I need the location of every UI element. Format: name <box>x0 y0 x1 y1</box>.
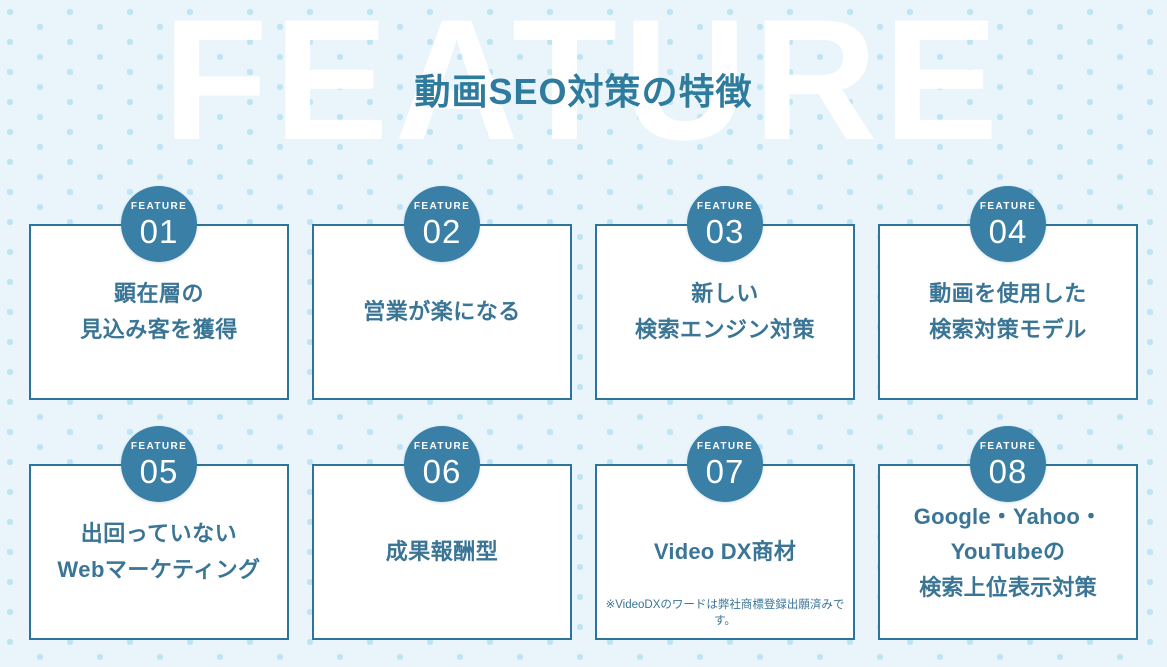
feature-card-04[interactable]: 動画を使用した 検索対策モデル FEATURE 04 <box>878 186 1138 400</box>
feature-card-text: Video DX商材 <box>648 534 802 570</box>
feature-badge-01: FEATURE 01 <box>121 186 197 262</box>
feature-card-02[interactable]: 営業が楽になる FEATURE 02 <box>312 186 572 400</box>
badge-number: 08 <box>989 455 1028 488</box>
feature-badge-05: FEATURE 05 <box>121 426 197 502</box>
feature-badge-08: FEATURE 08 <box>970 426 1046 502</box>
badge-label: FEATURE <box>131 202 187 212</box>
badge-number: 04 <box>989 215 1028 248</box>
badge-number: 03 <box>706 215 745 248</box>
feature-card-note: ※VideoDXのワードは弊社商標登録出願済みです。 <box>597 596 853 628</box>
page-header: FEATURE 動画SEO対策の特徴 <box>0 0 1167 160</box>
badge-label: FEATURE <box>414 202 470 212</box>
feature-card-text: 営業が楽になる <box>357 294 527 330</box>
feature-badge-07: FEATURE 07 <box>687 426 763 502</box>
feature-card-text: 顕在層の 見込み客を獲得 <box>74 276 244 347</box>
page-title: 動画SEO対策の特徴 <box>0 63 1167 115</box>
feature-card-06[interactable]: 成果報酬型 FEATURE 06 <box>312 426 572 640</box>
badge-number: 02 <box>423 215 462 248</box>
feature-card-text: 新しい 検索エンジン対策 <box>629 276 821 347</box>
badge-label: FEATURE <box>697 202 753 212</box>
feature-card-01[interactable]: 顕在層の 見込み客を獲得 FEATURE 01 <box>29 186 289 400</box>
feature-card-text: 成果報酬型 <box>380 534 505 570</box>
badge-number: 06 <box>423 455 462 488</box>
feature-card-03[interactable]: 新しい 検索エンジン対策 FEATURE 03 <box>595 186 855 400</box>
feature-card-08[interactable]: Google・Yahoo・ YouTubeの 検索上位表示対策 FEATURE … <box>878 426 1138 640</box>
badge-label: FEATURE <box>980 442 1036 452</box>
feature-badge-03: FEATURE 03 <box>687 186 763 262</box>
badge-label: FEATURE <box>697 442 753 452</box>
feature-card-text: 動画を使用した 検索対策モデル <box>923 276 1093 347</box>
badge-label: FEATURE <box>414 442 470 452</box>
badge-number: 01 <box>140 215 179 248</box>
badge-label: FEATURE <box>131 442 187 452</box>
feature-badge-06: FEATURE 06 <box>404 426 480 502</box>
feature-card-07[interactable]: Video DX商材 ※VideoDXのワードは弊社商標登録出願済みです。 FE… <box>595 426 855 640</box>
feature-badge-02: FEATURE 02 <box>404 186 480 262</box>
feature-card-text: Google・Yahoo・ YouTubeの 検索上位表示対策 <box>908 499 1108 606</box>
feature-card-05[interactable]: 出回っていない Webマーケティング FEATURE 05 <box>29 426 289 640</box>
badge-number: 05 <box>140 455 179 488</box>
feature-cards-grid: 顕在層の 見込み客を獲得 FEATURE 01 営業が楽になる FEATURE … <box>29 186 1139 640</box>
badge-number: 07 <box>706 455 745 488</box>
feature-badge-04: FEATURE 04 <box>970 186 1046 262</box>
feature-card-text: 出回っていない Webマーケティング <box>51 516 266 587</box>
badge-label: FEATURE <box>980 202 1036 212</box>
